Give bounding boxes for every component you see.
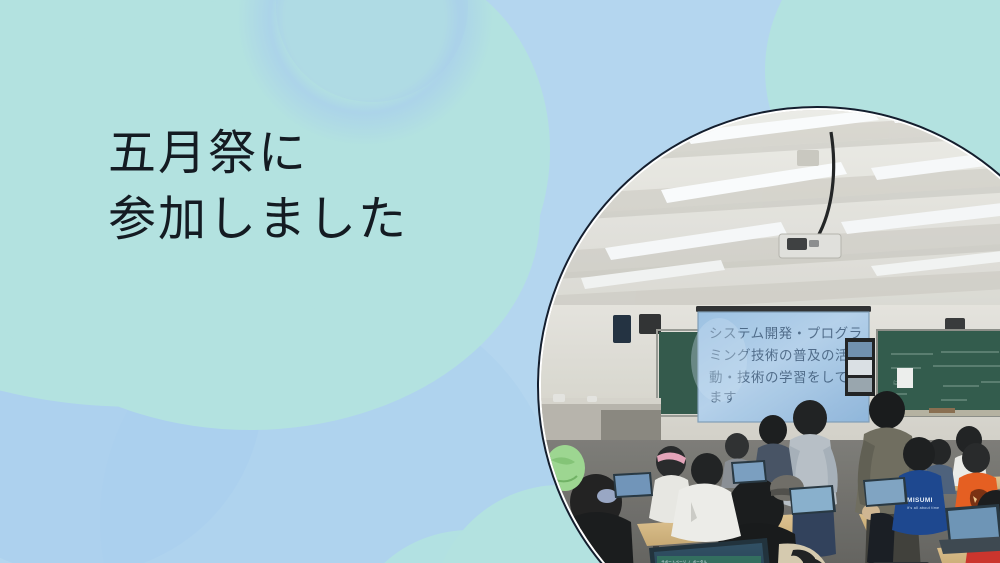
photo-clip: システム開発・プログラ ミング技術の普及の活 動・技術の学習をしてい ます [541,110,1000,563]
title-line-2: 参加しました [108,186,508,252]
presentation-slide: 五月祭に 参加しました [0,0,1000,563]
classroom-photo-illustration: システム開発・プログラ ミング技術の普及の活 動・技術の学習をしてい ます [541,110,1000,563]
title-line-1: 五月祭に [108,120,508,186]
slide-title: 五月祭に 参加しました [108,120,508,252]
circular-photo: システム開発・プログラ ミング技術の普及の活 動・技術の学習をしてい ます [537,106,1000,563]
